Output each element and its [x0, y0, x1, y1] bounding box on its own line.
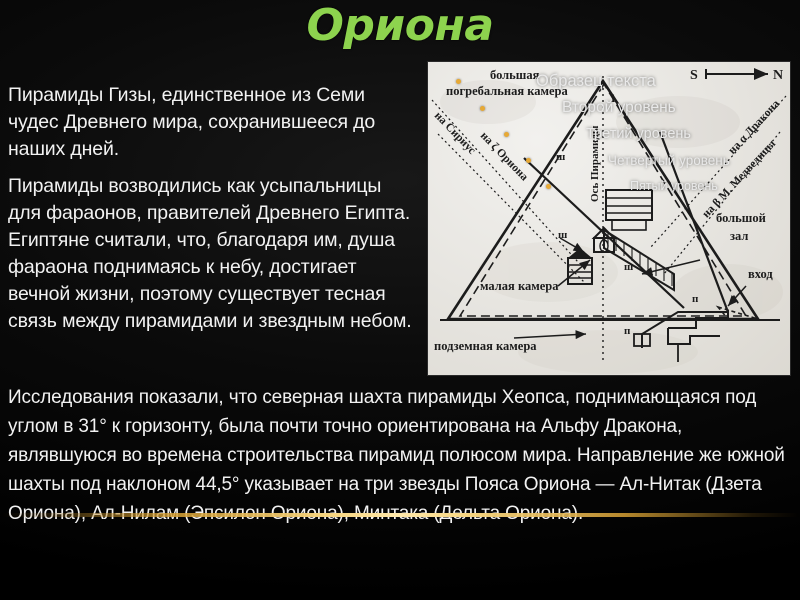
content-placeholder[interactable]: Образец текста Второй уровень Третий уро… [536, 70, 792, 216]
label-shaft-3: ш [624, 261, 633, 273]
gold-divider [0, 513, 800, 517]
placeholder-bullet-3 [504, 132, 509, 137]
placeholder-line-2[interactable]: Второй уровень [562, 99, 676, 117]
label-entrance: вход [748, 267, 773, 281]
bottom-text-block: Исследования показали, что северная шахт… [8, 383, 792, 528]
label-underground-chamber: подземная камера [434, 339, 537, 353]
presentation-slide: Ориона Пирамиды Гизы, единственное из Се… [0, 0, 800, 600]
placeholder-line-1[interactable]: Образец текста [536, 72, 656, 91]
placeholder-bullet-1 [456, 79, 461, 84]
bottom-paragraph: Исследования показали, что северная шахт… [8, 383, 792, 528]
placeholder-line-4[interactable]: Четвертый уровень [608, 153, 730, 168]
label-direction-zeta-orionis: на ζ Ориона [478, 129, 531, 184]
label-passage-2: п [624, 325, 631, 337]
placeholder-line-5[interactable]: Пятый уровень [630, 179, 718, 193]
label-passage-1: п [692, 293, 699, 305]
placeholder-bullet-2 [480, 106, 485, 111]
placeholder-line-3[interactable]: Третий уровень [586, 126, 691, 142]
label-shaft-2: ш [558, 229, 567, 241]
placeholder-bullet-5 [546, 184, 551, 189]
page-title: Ориона [0, 0, 800, 52]
body-paragraph-2: Пирамиды возводились как усыпальницы для… [8, 173, 416, 335]
placeholder-bullet-4 [526, 158, 531, 163]
label-great-gallery-line2: зал [730, 229, 748, 243]
left-text-block: Пирамиды Гизы, единственное из Семи чуде… [8, 82, 416, 345]
label-big-chamber-line1: большая [490, 68, 540, 82]
label-small-chamber: малая камера [480, 279, 559, 293]
body-paragraph-1: Пирамиды Гизы, единственное из Семи чуде… [8, 82, 416, 163]
